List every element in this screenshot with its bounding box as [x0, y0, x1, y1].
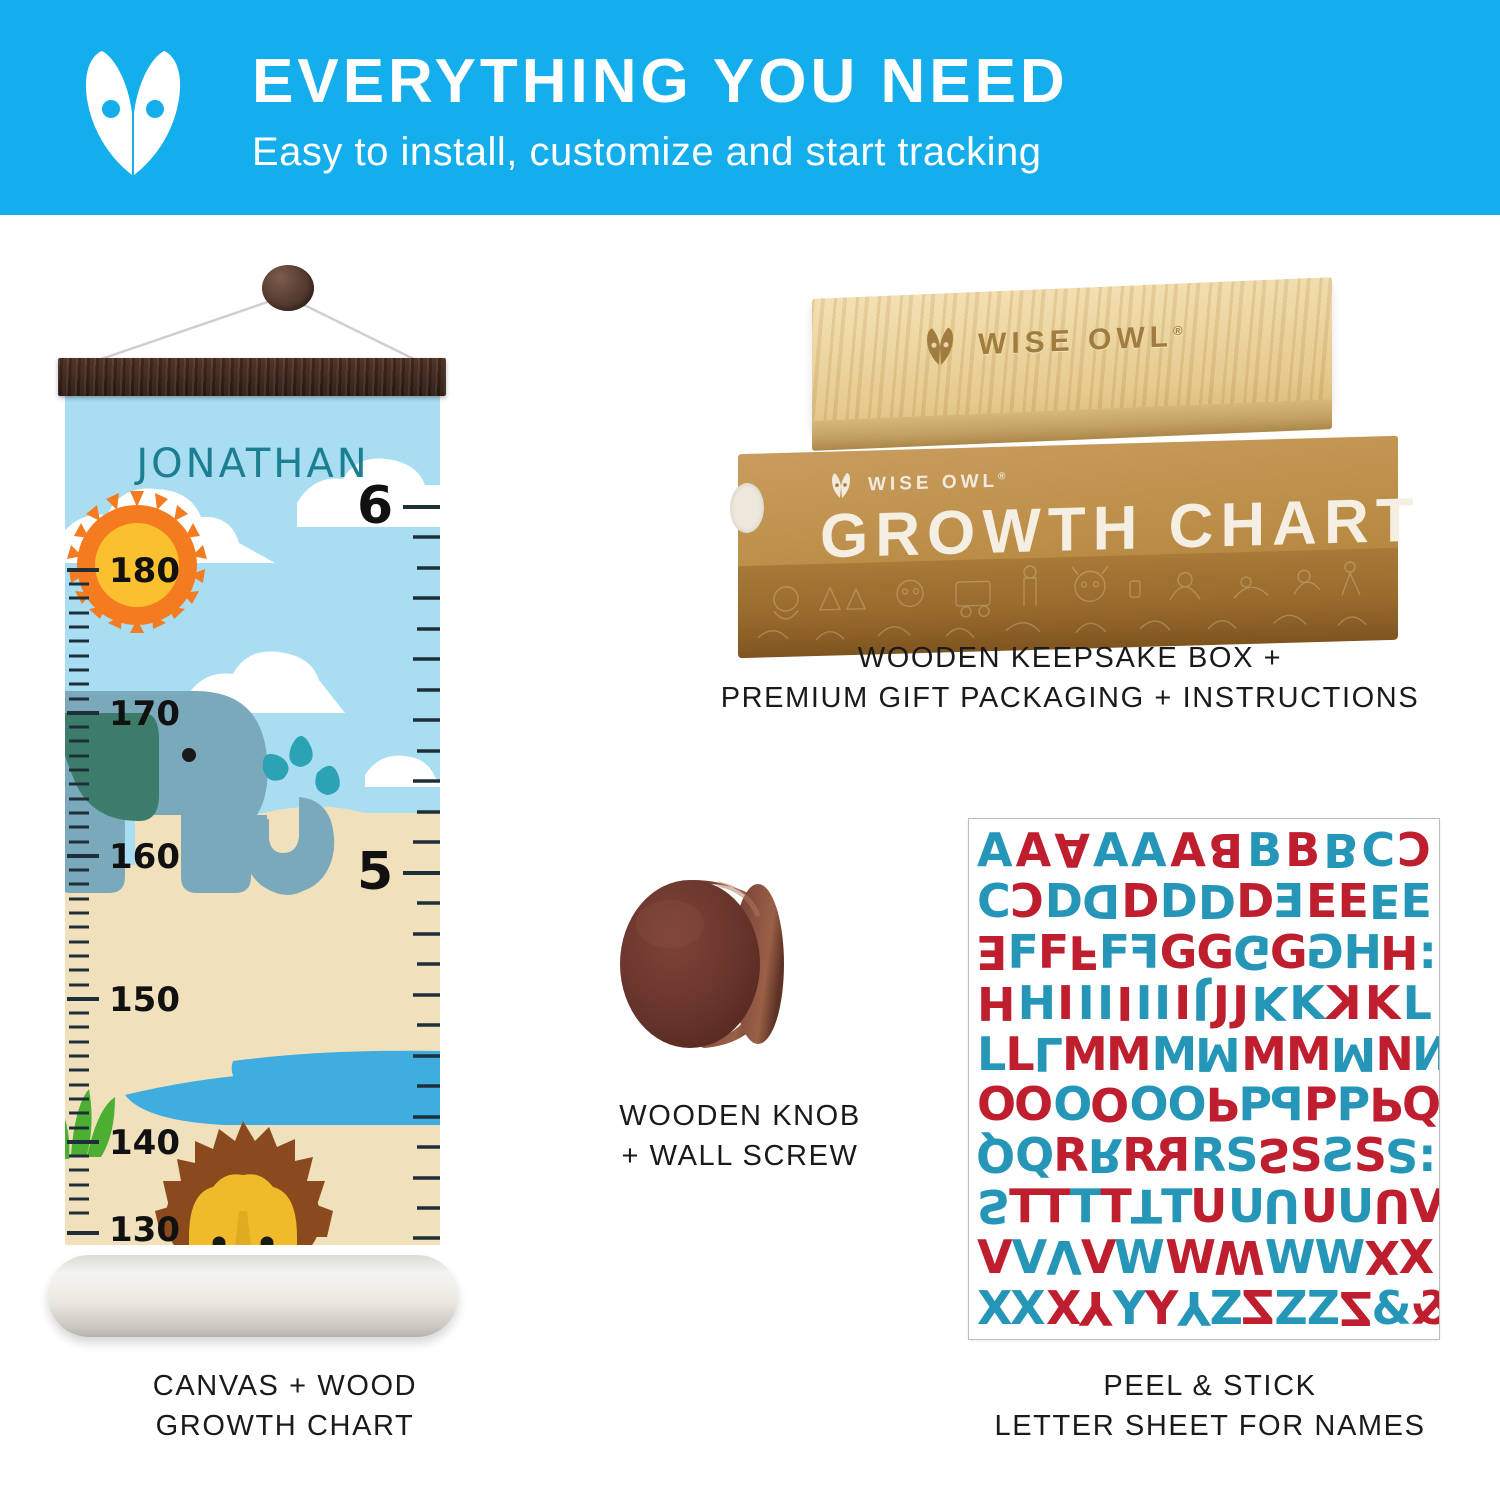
wise-owl-logo-icon	[918, 327, 962, 367]
cm-label: 140	[109, 1123, 180, 1163]
brand-name: WISE OWL	[868, 471, 998, 496]
letter-sticker: A	[1132, 827, 1167, 873]
letter-sticker: T	[1131, 1183, 1161, 1229]
letter-sticker: X	[1011, 1285, 1045, 1331]
letter-sticker: B	[1323, 827, 1357, 873]
caption-line-2: LETTER SHEET FOR NAMES	[950, 1406, 1470, 1446]
letter-row: VVVVWWWWWXX	[977, 1234, 1431, 1280]
letter-sticker: J	[1193, 980, 1209, 1026]
letter-sticker: D	[1236, 878, 1273, 924]
letter-sticker: Y	[1145, 1285, 1177, 1331]
letter-sticker: U	[1301, 1183, 1337, 1229]
letter-sticker: K	[1289, 980, 1324, 1026]
letter-sticker: :	[1418, 929, 1435, 975]
letter-sticker: P	[1206, 1081, 1239, 1127]
letter-sticker: D	[1160, 878, 1197, 924]
letter-sticker: J	[1213, 980, 1229, 1026]
letter-sticker: Y	[1080, 1285, 1112, 1331]
letter-sticker: G	[1307, 929, 1344, 975]
header-banner: EVERYTHING YOU NEED Easy to install, cus…	[0, 0, 1500, 215]
letter-sticker: T	[1070, 1183, 1100, 1229]
keepsake-box-product: WISE OWL®	[700, 270, 1440, 640]
letter-row: HHIIIIIIIJJJKKKKL	[977, 980, 1431, 1026]
letter-sticker: V	[1081, 1234, 1116, 1280]
letter-sticker: R	[1156, 1132, 1190, 1178]
caption-line-2: PREMIUM GIFT PACKAGING + INSTRUCTIONS	[700, 678, 1440, 718]
letter-sticker: C	[1398, 827, 1431, 873]
letter-sticker: L	[977, 1031, 1005, 1077]
letter-sticker: S	[1322, 1132, 1354, 1178]
letter-sticker: H	[977, 980, 1015, 1026]
letter-sticker: D	[1121, 878, 1158, 924]
letter-sticker: &	[1371, 1285, 1410, 1331]
letter-sticker: O	[1091, 1081, 1129, 1127]
letter-sticker: W	[1115, 1234, 1165, 1280]
letter-sticker: Z	[1307, 1285, 1339, 1331]
letter-sticker: S	[1257, 1132, 1289, 1178]
letter-sticker: O	[977, 1081, 1015, 1127]
caption-line-1: WOODEN KEEPSAKE BOX +	[700, 638, 1440, 678]
letter-sticker: S	[1386, 1132, 1418, 1178]
letter-sticker: G	[1160, 929, 1197, 975]
letter-sticker: S	[977, 1183, 1009, 1229]
letter-sticker: X	[1364, 1234, 1398, 1280]
letter-sticker: V	[1410, 1183, 1440, 1229]
cm-label: 180	[109, 551, 180, 591]
cm-label: 150	[109, 980, 180, 1020]
letter-sticker: U	[1264, 1183, 1300, 1229]
letter-sticker: Z	[1242, 1285, 1274, 1331]
banner-text-block: EVERYTHING YOU NEED Easy to install, cus…	[252, 46, 1352, 180]
wise-owl-logo-icon	[48, 47, 218, 177]
letter-sticker: G	[1196, 929, 1233, 975]
letter-sticker: Y	[1177, 1285, 1209, 1331]
letter-sticker: U	[1191, 1183, 1227, 1229]
letter-sticker: E	[977, 929, 1007, 975]
letter-sticker: V	[977, 1234, 1012, 1280]
letter-sticker-sheet: AAAAAABBBBCCCCDDDDDDEEEEEEFFFFFGGGGGHH:H…	[968, 818, 1440, 1340]
letter-sticker: A	[1016, 827, 1051, 873]
letter-sticker: F	[1038, 929, 1068, 975]
letter-sticker: W	[1215, 1234, 1265, 1280]
canvas-chart-face: 180 170 160 150 140 130	[65, 395, 440, 1245]
wooden-hanger-bar	[58, 358, 446, 396]
canvas-chart-caption: CANVAS + WOOD GROWTH CHART	[60, 1366, 510, 1446]
letter-sticker: X	[1399, 1234, 1433, 1280]
letter-sticker: F	[1007, 929, 1037, 975]
letter-rows-container: AAAAAABBBBCCCCDDDDDDEEEEEEFFFFFGGGGGHH:H…	[977, 827, 1431, 1331]
caption-line-2: + WALL SCREW	[580, 1136, 900, 1176]
wood-lid-brand-text: WISE OWL®	[978, 320, 1183, 363]
letter-sticker: R	[1122, 1132, 1156, 1178]
letter-sticker: Q	[977, 1132, 1015, 1178]
letter-sticker: T	[1009, 1183, 1039, 1229]
letter-sticker: I	[1097, 980, 1113, 1026]
letter-sticker: Z	[1210, 1285, 1242, 1331]
letter-sticker: O	[1053, 1081, 1091, 1127]
letter-sticker: R	[1191, 1132, 1225, 1178]
letter-sticker: D	[1083, 878, 1120, 924]
infographic-page: EVERYTHING YOU NEED Easy to install, cus…	[0, 0, 1500, 1500]
letter-sticker: C	[977, 878, 1010, 924]
letter-sticker: M	[1062, 1031, 1107, 1077]
letter-sticker: O	[1168, 1081, 1206, 1127]
letter-sticker: Q	[1015, 1132, 1053, 1178]
letter-sticker: N	[1375, 1031, 1413, 1077]
letter-sticker: R	[1053, 1132, 1087, 1178]
banner-title: EVERYTHING YOU NEED	[252, 46, 1352, 118]
letter-sticker: I	[1136, 980, 1152, 1026]
letter-sticker: M	[1241, 1031, 1286, 1077]
cm-label: 160	[109, 837, 180, 877]
letter-sticker: J	[1232, 980, 1248, 1026]
letter-sticker: Q	[1402, 1081, 1440, 1127]
letter-sticker: S	[1290, 1132, 1322, 1178]
letter-sticker: E	[1401, 878, 1431, 924]
wise-owl-logo-icon	[826, 473, 856, 500]
letter-sticker: D	[1045, 878, 1082, 924]
letter-sticker: Z	[1339, 1285, 1371, 1331]
letter-sticker: F	[1129, 929, 1159, 975]
letter-sticker: A	[1170, 827, 1205, 873]
caption-line-1: PEEL & STICK	[950, 1366, 1470, 1406]
letter-sticker: Y	[1113, 1285, 1145, 1331]
wooden-knob-caption: WOODEN KNOB + WALL SCREW	[580, 1096, 900, 1176]
wooden-knob-icon	[608, 868, 808, 1068]
letter-sticker: A	[977, 827, 1012, 873]
letter-sticker: U	[1228, 1183, 1264, 1229]
letter-sticker: L	[1403, 980, 1431, 1026]
letter-row: OOOOOOPPPPPPQQ	[977, 1081, 1431, 1127]
caption-line-1: CANVAS + WOOD	[60, 1366, 510, 1406]
cardboard-packaging-box: WISE OWL® GROWTH CHART	[708, 445, 1408, 635]
letter-sticker: L	[1005, 1031, 1033, 1077]
letter-sticker: M	[1152, 1031, 1197, 1077]
letter-sticker: X	[977, 1285, 1011, 1331]
letter-sticker: I	[1174, 980, 1190, 1026]
letter-sticker: E	[1337, 878, 1367, 924]
letter-sticker: M	[1107, 1031, 1152, 1077]
letter-sticker: O	[1129, 1081, 1167, 1127]
letter-sticker: W	[1265, 1234, 1315, 1280]
keepsake-box-caption: WOODEN KEEPSAKE BOX + PREMIUM GIFT PACKA…	[700, 638, 1440, 718]
brand-name: WISE OWL	[978, 320, 1173, 361]
letter-sticker: S	[1354, 1132, 1386, 1178]
child-name-label: JONATHAN	[133, 441, 369, 487]
letter-row: QQRRRRRSSSSSS:	[977, 1132, 1431, 1178]
letter-sticker: D	[1198, 878, 1235, 924]
letter-sticker: I	[1116, 980, 1132, 1026]
letter-sticker: O	[1015, 1081, 1053, 1127]
letter-sticker: H	[1018, 980, 1056, 1026]
letter-sticker: G	[1270, 929, 1307, 975]
cm-label: 170	[109, 694, 180, 734]
letter-sticker: E	[1369, 878, 1399, 924]
letter-row: XXXYYYYZZZZZ&&	[977, 1285, 1431, 1331]
registered-mark: ®	[1173, 323, 1183, 338]
letter-sticker: K	[1327, 980, 1362, 1026]
letter-sticker: X	[1046, 1285, 1080, 1331]
letter-sticker: T	[1040, 1183, 1070, 1229]
banner-subtitle: Easy to install, customize and start tra…	[252, 124, 1352, 180]
letter-sticker: P	[1369, 1081, 1402, 1127]
letter-row: STTTTTTUUUUUUV	[977, 1183, 1431, 1229]
letter-sticker: P	[1304, 1081, 1337, 1127]
letter-sticker: K	[1251, 980, 1286, 1026]
letter-sticker: W	[1314, 1234, 1364, 1280]
letter-sticker: Z	[1274, 1285, 1306, 1331]
letter-sticker: G	[1233, 929, 1270, 975]
wall-knob-icon	[262, 265, 314, 311]
letter-sticker: T	[1161, 1183, 1191, 1229]
letter-sticker: H	[1343, 929, 1381, 975]
letter-sticker: B	[1209, 827, 1243, 873]
letter-sticker: T	[1100, 1183, 1130, 1229]
letter-sticker: W	[1165, 1234, 1215, 1280]
letter-row: EFFFFFGGGGGHH:	[977, 929, 1431, 975]
letter-sticker: P	[1271, 1081, 1304, 1127]
letter-row: LLLMMMMMMMNNNN	[977, 1031, 1431, 1077]
letter-sticker: I	[1078, 980, 1094, 1026]
letter-row: CCDDDDDDEEEEE	[977, 878, 1431, 924]
feet-label: 5	[357, 842, 393, 902]
caption-line-2: GROWTH CHART	[60, 1406, 510, 1446]
letter-sticker: M	[1331, 1031, 1376, 1077]
letter-sticker: E	[1306, 878, 1336, 924]
letter-sticker: P	[1337, 1081, 1370, 1127]
letter-sticker: E	[1274, 878, 1304, 924]
letter-sticker: :	[1418, 1132, 1435, 1178]
letter-row: AAAAAABBBBCC	[977, 827, 1431, 873]
letter-sticker: I	[1155, 980, 1171, 1026]
letter-sticker: H	[1381, 929, 1419, 975]
letter-sticker: C	[1361, 827, 1394, 873]
letter-sticker: N	[1413, 1031, 1440, 1077]
letter-sticker: R	[1088, 1132, 1122, 1178]
letter-sticker: M	[1196, 1031, 1241, 1077]
letter-sticker: F	[1099, 929, 1129, 975]
rolled-canvas-bottom	[48, 1255, 458, 1337]
letter-sticker: L	[1034, 1031, 1062, 1077]
letter-sticker: F	[1068, 929, 1098, 975]
letter-sheet-caption: PEEL & STICK LETTER SHEET FOR NAMES	[950, 1366, 1470, 1446]
letter-sticker: C	[1011, 878, 1044, 924]
letter-sticker: B	[1285, 827, 1319, 873]
letter-sticker: B	[1247, 827, 1281, 873]
caption-line-1: WOODEN KNOB	[580, 1096, 900, 1136]
letter-sticker: P	[1238, 1081, 1271, 1127]
cardboard-branding: WISE OWL®	[826, 468, 1006, 499]
letter-sticker: U	[1373, 1183, 1409, 1229]
letter-sticker: V	[1012, 1234, 1047, 1280]
letter-sticker: A	[1093, 827, 1128, 873]
letter-sticker: &	[1411, 1285, 1440, 1331]
cardboard-brand-text: WISE OWL®	[868, 470, 1006, 496]
registered-mark: ®	[998, 471, 1005, 482]
letter-sticker: I	[1058, 980, 1074, 1026]
growth-chart-product: 180 170 160 150 140 130	[30, 255, 480, 1355]
letter-sticker: M	[1286, 1031, 1331, 1077]
cm-label: 130	[109, 1210, 180, 1245]
letter-sticker: V	[1046, 1234, 1081, 1280]
letter-sticker: S	[1225, 1132, 1257, 1178]
letter-sticker: A	[1054, 827, 1089, 873]
letter-sticker: K	[1365, 980, 1400, 1026]
letter-sticker: U	[1337, 1183, 1373, 1229]
